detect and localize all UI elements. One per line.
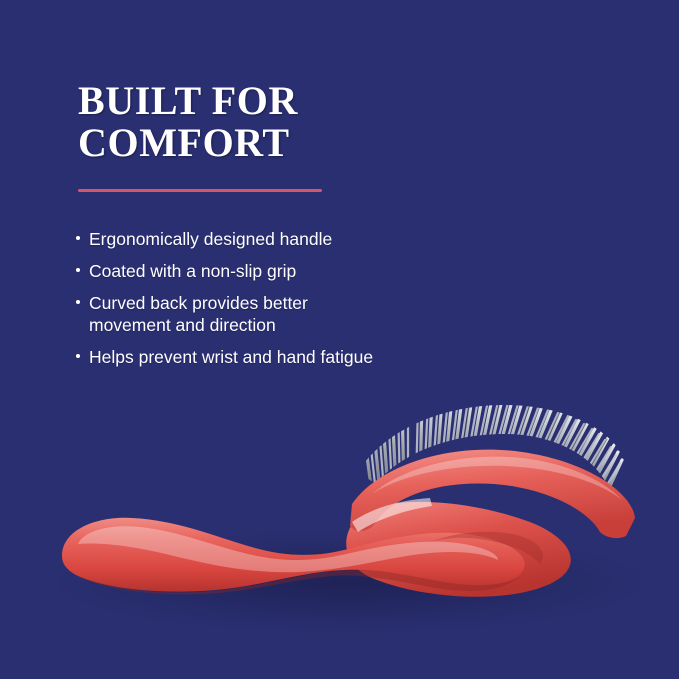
title-divider [78, 189, 322, 192]
list-item: Curved back provides better movement and… [74, 292, 504, 336]
list-item: Coated with a non-slip grip [74, 260, 504, 282]
list-item: Ergonomically designed handle [74, 228, 504, 250]
bullet-icon [76, 268, 80, 272]
bullet-icon [76, 300, 80, 304]
list-item-label: Coated with a non-slip grip [89, 261, 296, 281]
list-item-label: Ergonomically designed handle [89, 229, 332, 249]
page-title: BUILT FOR COMFORT [78, 80, 498, 164]
product-feature-panel: BUILT FOR COMFORT Ergonomically designed… [0, 0, 679, 679]
list-item-label: Curved back provides better movement and… [89, 293, 308, 335]
product-image-slicker-brush [0, 360, 679, 679]
text-block: BUILT FOR COMFORT [78, 80, 498, 164]
bullet-icon [76, 236, 80, 240]
feature-list: Ergonomically designed handle Coated wit… [74, 228, 504, 378]
bullet-icon [76, 354, 80, 358]
